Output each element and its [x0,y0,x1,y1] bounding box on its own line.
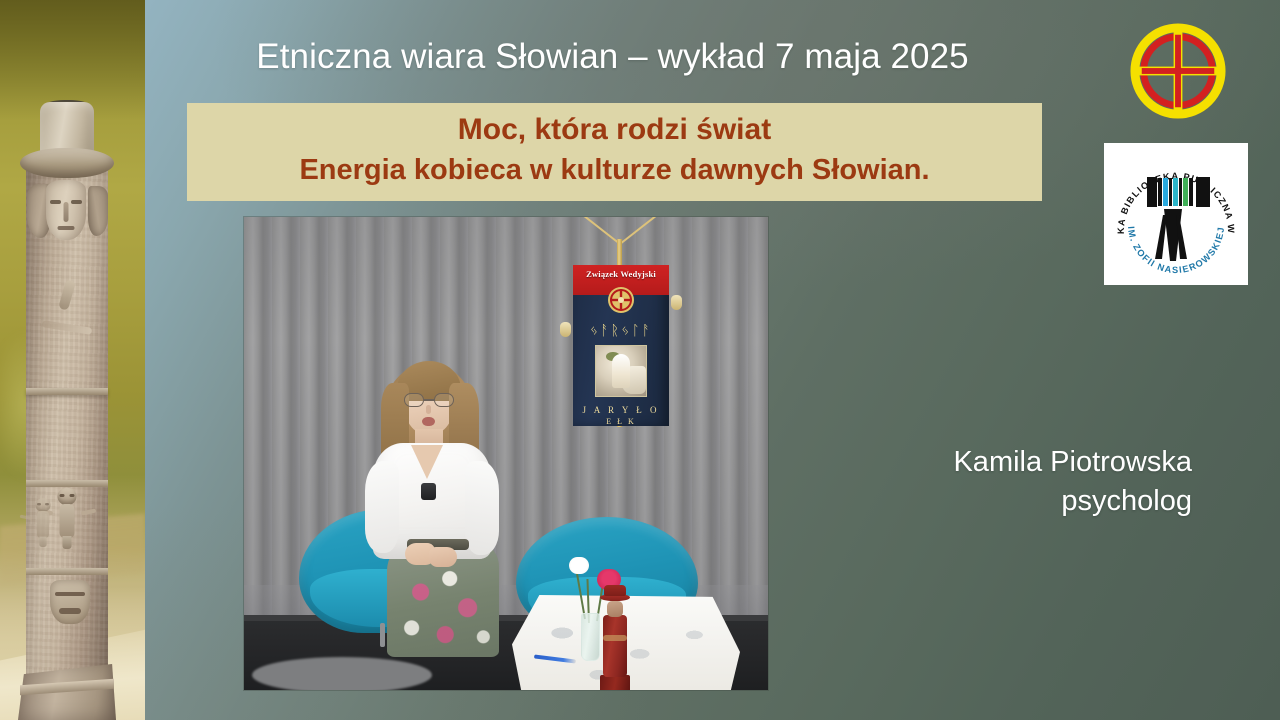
presenter-glasses-icon [403,393,455,407]
presenter-lens-left [404,393,424,407]
banner-jarylo-image [595,345,647,397]
wooden-idol-figurine [600,585,630,690]
idol-face-front [46,180,86,240]
idol-relief-figure-side [29,498,56,548]
idol-pillar-shaft [26,166,108,711]
lecture-video-frame[interactable]: Związek Wedyjski ᛃᚨᚱᛃᛚᚨ J A [244,217,768,690]
subtitle-primary: Moc, która rodzi świat [458,110,771,150]
slavic-sun-cross-icon [1129,22,1227,120]
presenter-arm-left [365,461,399,553]
idol-hat-brim [20,148,114,178]
idol-relief-legs [63,536,72,549]
subtitle-banner: Moc, która rodzi świat Energia kobieca w… [187,103,1042,201]
idol-stone-texture [26,166,108,711]
banner-deity-name: J A R Y Ł O [573,405,669,415]
idol-relief-head [58,488,77,505]
presenter-mouth [422,417,435,426]
presentation-slide: Etniczna wiara Słowian – wykład 7 maja 2… [0,0,1280,720]
glass-vase [581,613,600,661]
figurine-arms [603,635,627,641]
banner-runic-inscription: ᛃᚨᚱᛃᛚᚨ [573,323,669,339]
banner-cloth: Związek Wedyjski ᛃᚨᚱᛃᛚᚨ J A [573,265,669,426]
presenter-lens-right [434,393,454,407]
banner-sun-cross-emblem [606,285,636,315]
page-title: Etniczna wiara Słowian – wykład 7 maja 2… [145,33,1080,81]
figurine-face [607,601,623,617]
figurine-base [600,675,630,690]
figurine-hat [604,585,626,596]
idol-relief-legs-side [39,537,46,547]
idol-face-right [88,186,108,236]
banner-tassel-left [560,322,571,337]
idol-face-mouth [58,226,75,230]
idol-relief-body-side [37,511,49,538]
wedyjski-wall-banner: Związek Wedyjski ᛃᚨᚱᛃᛚᚨ J A [554,237,684,427]
presenter-figure [349,357,534,627]
presenter-collar [411,445,443,479]
idol-relief-body [60,504,75,538]
idol-pillar [18,88,116,720]
presenter-lapel-microphone [421,483,436,500]
presenter-hand-right [429,547,457,567]
presenter-arm-right [465,461,499,555]
figurine-body [603,615,627,677]
banner-city-name: E Ł K [573,417,669,426]
banner-tassel-right [671,295,682,310]
presenter-name: Kamila Piotrowska [792,443,1192,482]
studio-floor-rug [252,657,432,690]
subtitle-secondary: Energia kobieca w kulturze dawnych Słowi… [299,150,929,190]
presenter-glasses-bridge [424,399,434,401]
banner-organization-name: Związek Wedyjski [573,269,669,279]
idol-underworld-face [50,580,90,624]
presenter-credit: Kamila Piotrowska psycholog [792,443,1192,521]
library-logo: MIEJSKA BIBLIOTEKA PUBLICZNA W EŁKU IM. … [1104,143,1248,285]
presenter-role: psycholog [792,482,1192,521]
zbruch-idol-photo [0,0,145,720]
idol-tier-divider-1 [26,388,108,395]
idol-relief-head-side [35,498,50,512]
white-carnation [569,557,589,574]
banner-image-figure [612,354,630,388]
idol-tier-divider-2 [26,480,108,487]
idol-face-nose [64,202,69,222]
idol-tier-divider-3 [26,568,108,575]
